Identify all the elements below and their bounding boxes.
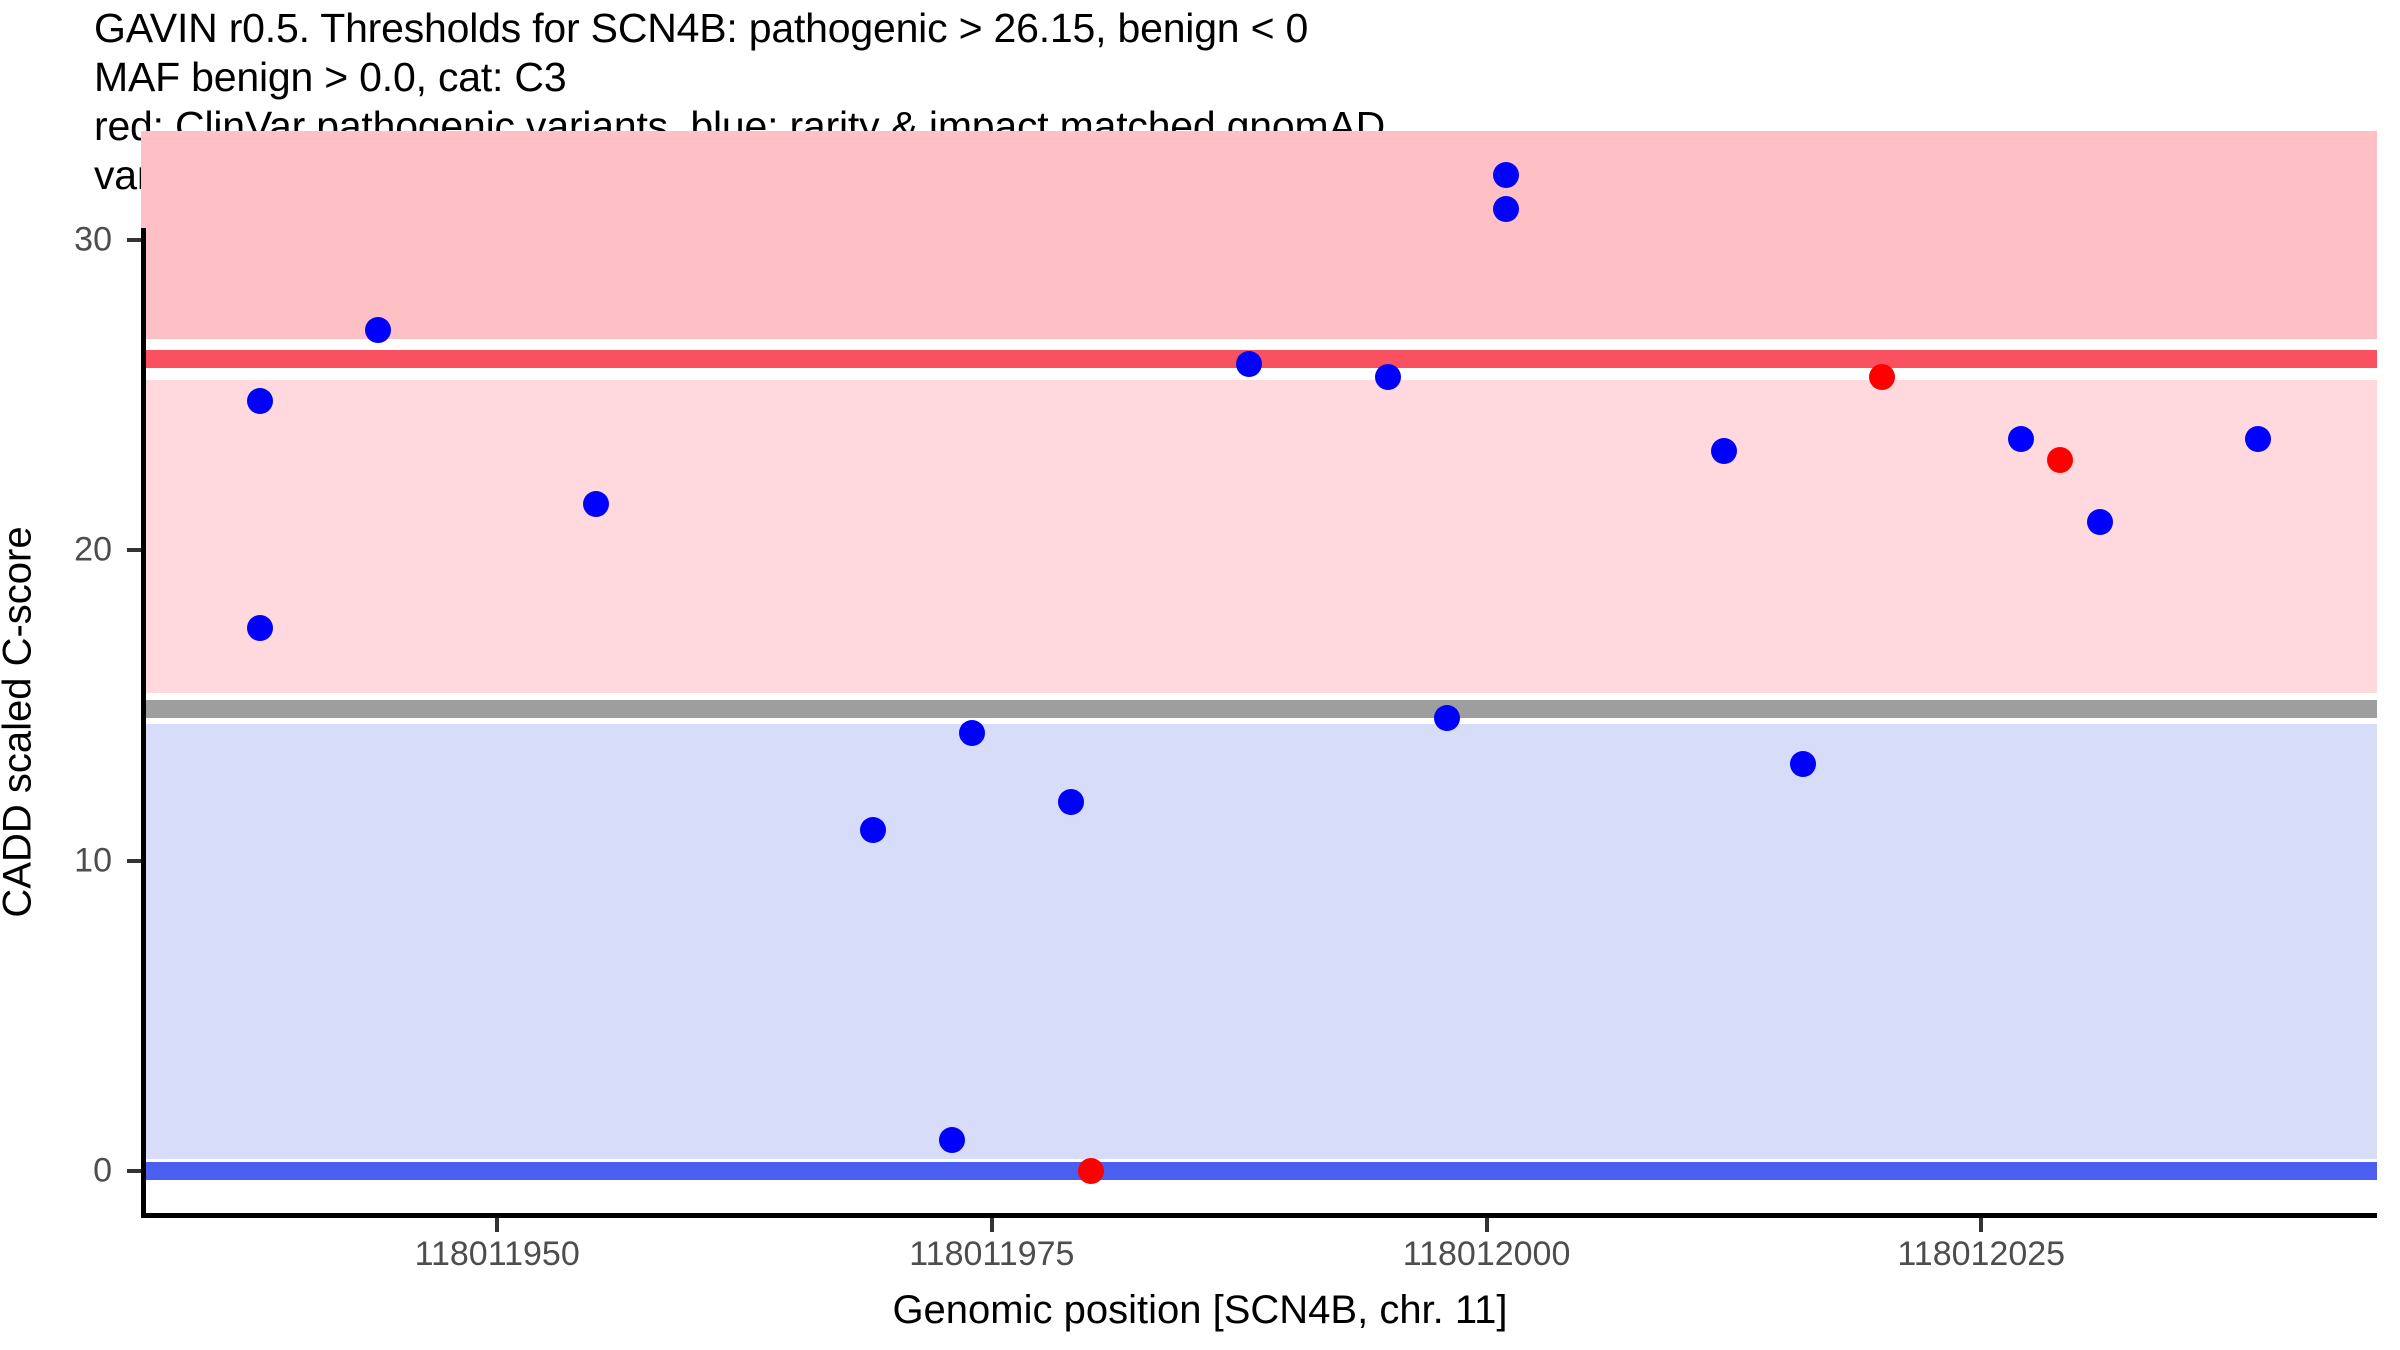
benign-band [141, 724, 2377, 1158]
gnomad-variant-point[interactable] [1711, 438, 1737, 464]
gnomad-variant-point[interactable] [1434, 705, 1460, 731]
x-tick-label: 118012000 [1403, 1235, 1571, 1274]
title-line-1: GAVIN r0.5. Thresholds for SCN4B: pathog… [94, 4, 2344, 53]
clinvar-pathogenic-point[interactable] [1869, 364, 1895, 390]
gnomad-variant-point[interactable] [247, 615, 273, 641]
y-tick-mark [127, 1169, 141, 1173]
x-tick-mark [1485, 1218, 1489, 1232]
y-axis-title: CADD scaled C-score [0, 526, 41, 917]
intermediate-band [141, 380, 2377, 693]
pathogenic-band [141, 131, 2377, 339]
plot-root: GAVIN r0.5. Thresholds for SCN4B: pathog… [0, 0, 2400, 1350]
x-tick-mark [495, 1218, 499, 1232]
y-tick-mark [127, 238, 141, 242]
y-tick-mark [127, 548, 141, 552]
genome-wide-fallback-line [141, 700, 2377, 718]
x-tick-mark [990, 1218, 994, 1232]
y-axis-title-wrap: CADD scaled C-score [0, 228, 48, 1216]
plot-panel [141, 228, 2377, 1216]
clinvar-pathogenic-point[interactable] [1078, 1158, 1104, 1184]
gnomad-variant-point[interactable] [247, 388, 273, 414]
y-axis-line [141, 228, 146, 1218]
x-axis-title: Genomic position [SCN4B, chr. 11] [0, 1288, 2400, 1333]
title-line-2: MAF benign > 0.0, cat: C3 [94, 53, 2344, 102]
gnomad-variant-point[interactable] [1493, 162, 1519, 188]
gnomad-variant-point[interactable] [2008, 426, 2034, 452]
x-tick-label: 118012025 [1897, 1235, 2065, 1274]
gnomad-variant-point[interactable] [2245, 426, 2271, 452]
gnomad-variant-point[interactable] [860, 817, 886, 843]
x-tick-label: 118011950 [415, 1235, 580, 1274]
x-tick-mark [1979, 1218, 1983, 1232]
gnomad-variant-point[interactable] [1236, 351, 1262, 377]
x-axis-line [141, 1213, 2377, 1218]
gnomad-variant-point[interactable] [1058, 789, 1084, 815]
y-tick-mark [127, 859, 141, 863]
benign-threshold-line [141, 1162, 2377, 1180]
gnomad-variant-point[interactable] [1375, 364, 1401, 390]
gnomad-variant-point[interactable] [583, 491, 609, 517]
x-tick-label: 118011975 [909, 1235, 1074, 1274]
